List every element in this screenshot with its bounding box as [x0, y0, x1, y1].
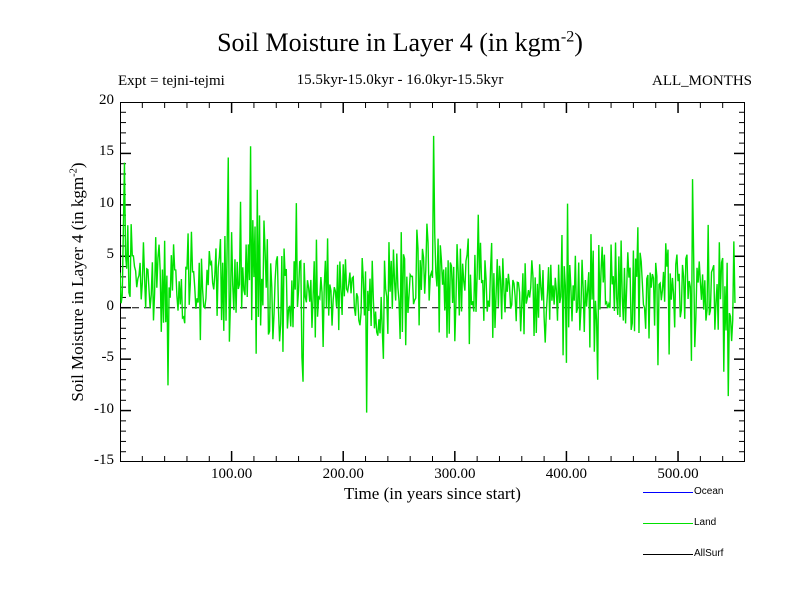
x-tick-label: 100.00: [187, 466, 277, 483]
y-tick-label: -5: [70, 349, 114, 366]
land-series-line: [120, 136, 735, 413]
y-tick-label: 10: [70, 195, 114, 212]
legend-item-land[interactable]: Land: [640, 515, 790, 533]
chart-page: Soil Moisture in Layer 4 (in kgm-2) Expt…: [0, 0, 800, 600]
page-title-text: Soil Moisture in Layer 4 (in kgm: [217, 28, 561, 57]
legend-line-swatch: [643, 523, 693, 524]
legend-line-swatch: [643, 554, 693, 555]
legend-label: Land: [694, 516, 716, 530]
x-tick-label: 500.00: [633, 466, 723, 483]
y-tick-label: 15: [70, 143, 114, 160]
x-tick-label: 200.00: [298, 466, 388, 483]
legend-label: Ocean: [694, 485, 723, 499]
page-title-tail: ): [574, 28, 583, 57]
months-label: ALL_MONTHS: [652, 73, 752, 90]
y-tick-label: -15: [70, 452, 114, 469]
legend-label: AllSurf: [694, 547, 723, 561]
page-title-superscript: -2: [561, 28, 574, 45]
legend-item-allsurf[interactable]: AllSurf: [640, 546, 790, 564]
x-tick-label: 300.00: [410, 466, 500, 483]
y-tick-label: 0: [70, 298, 114, 315]
y-tick-label: 5: [70, 246, 114, 263]
y-tick-label: 20: [70, 92, 114, 109]
y-axis-tick-labels: 20151050-5-10-15: [64, 102, 114, 462]
legend-item-ocean[interactable]: Ocean: [640, 484, 790, 502]
page-title: Soil Moisture in Layer 4 (in kgm-2): [0, 28, 800, 58]
x-tick-label: 400.00: [521, 466, 611, 483]
legend-line-swatch: [643, 492, 693, 493]
y-tick-label: -10: [70, 401, 114, 418]
legend: OceanLandAllSurf: [640, 484, 790, 570]
plot-canvas: [120, 102, 745, 462]
